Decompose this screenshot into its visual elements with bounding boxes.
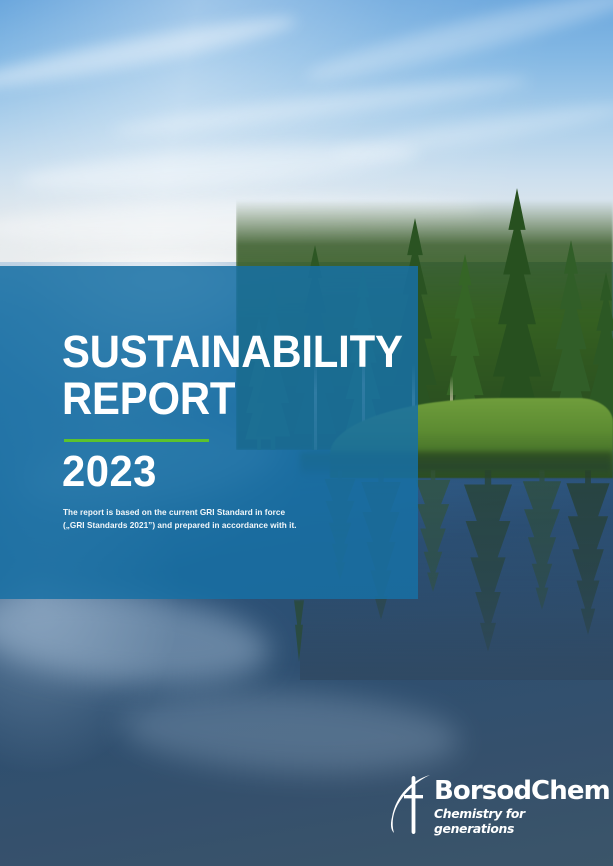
borsodchem-arc-mark-icon — [386, 773, 438, 835]
report-year: 2023 — [62, 447, 157, 497]
page-title: SUSTAINABILITY REPORT — [62, 328, 403, 422]
logo-tagline: Chemistry for generations — [434, 806, 578, 836]
accent-rule — [64, 439, 209, 442]
logo-wordmark: BorsodChem Chemistry for generations — [434, 777, 578, 836]
cloud-wisp — [0, 8, 299, 98]
report-cover-page: SUSTAINABILITY REPORT 2023 The report is… — [0, 0, 613, 866]
cover-text-block: SUSTAINABILITY REPORT 2023 The report is… — [62, 266, 402, 599]
water-cloud-reflection — [118, 683, 462, 781]
borsodchem-logo: BorsodChem Chemistry for generations — [386, 773, 576, 835]
gri-standard-note: The report is based on the current GRI S… — [63, 507, 343, 532]
logo-company-name: BorsodChem — [434, 777, 578, 806]
cloud-wisp — [302, 0, 613, 91]
